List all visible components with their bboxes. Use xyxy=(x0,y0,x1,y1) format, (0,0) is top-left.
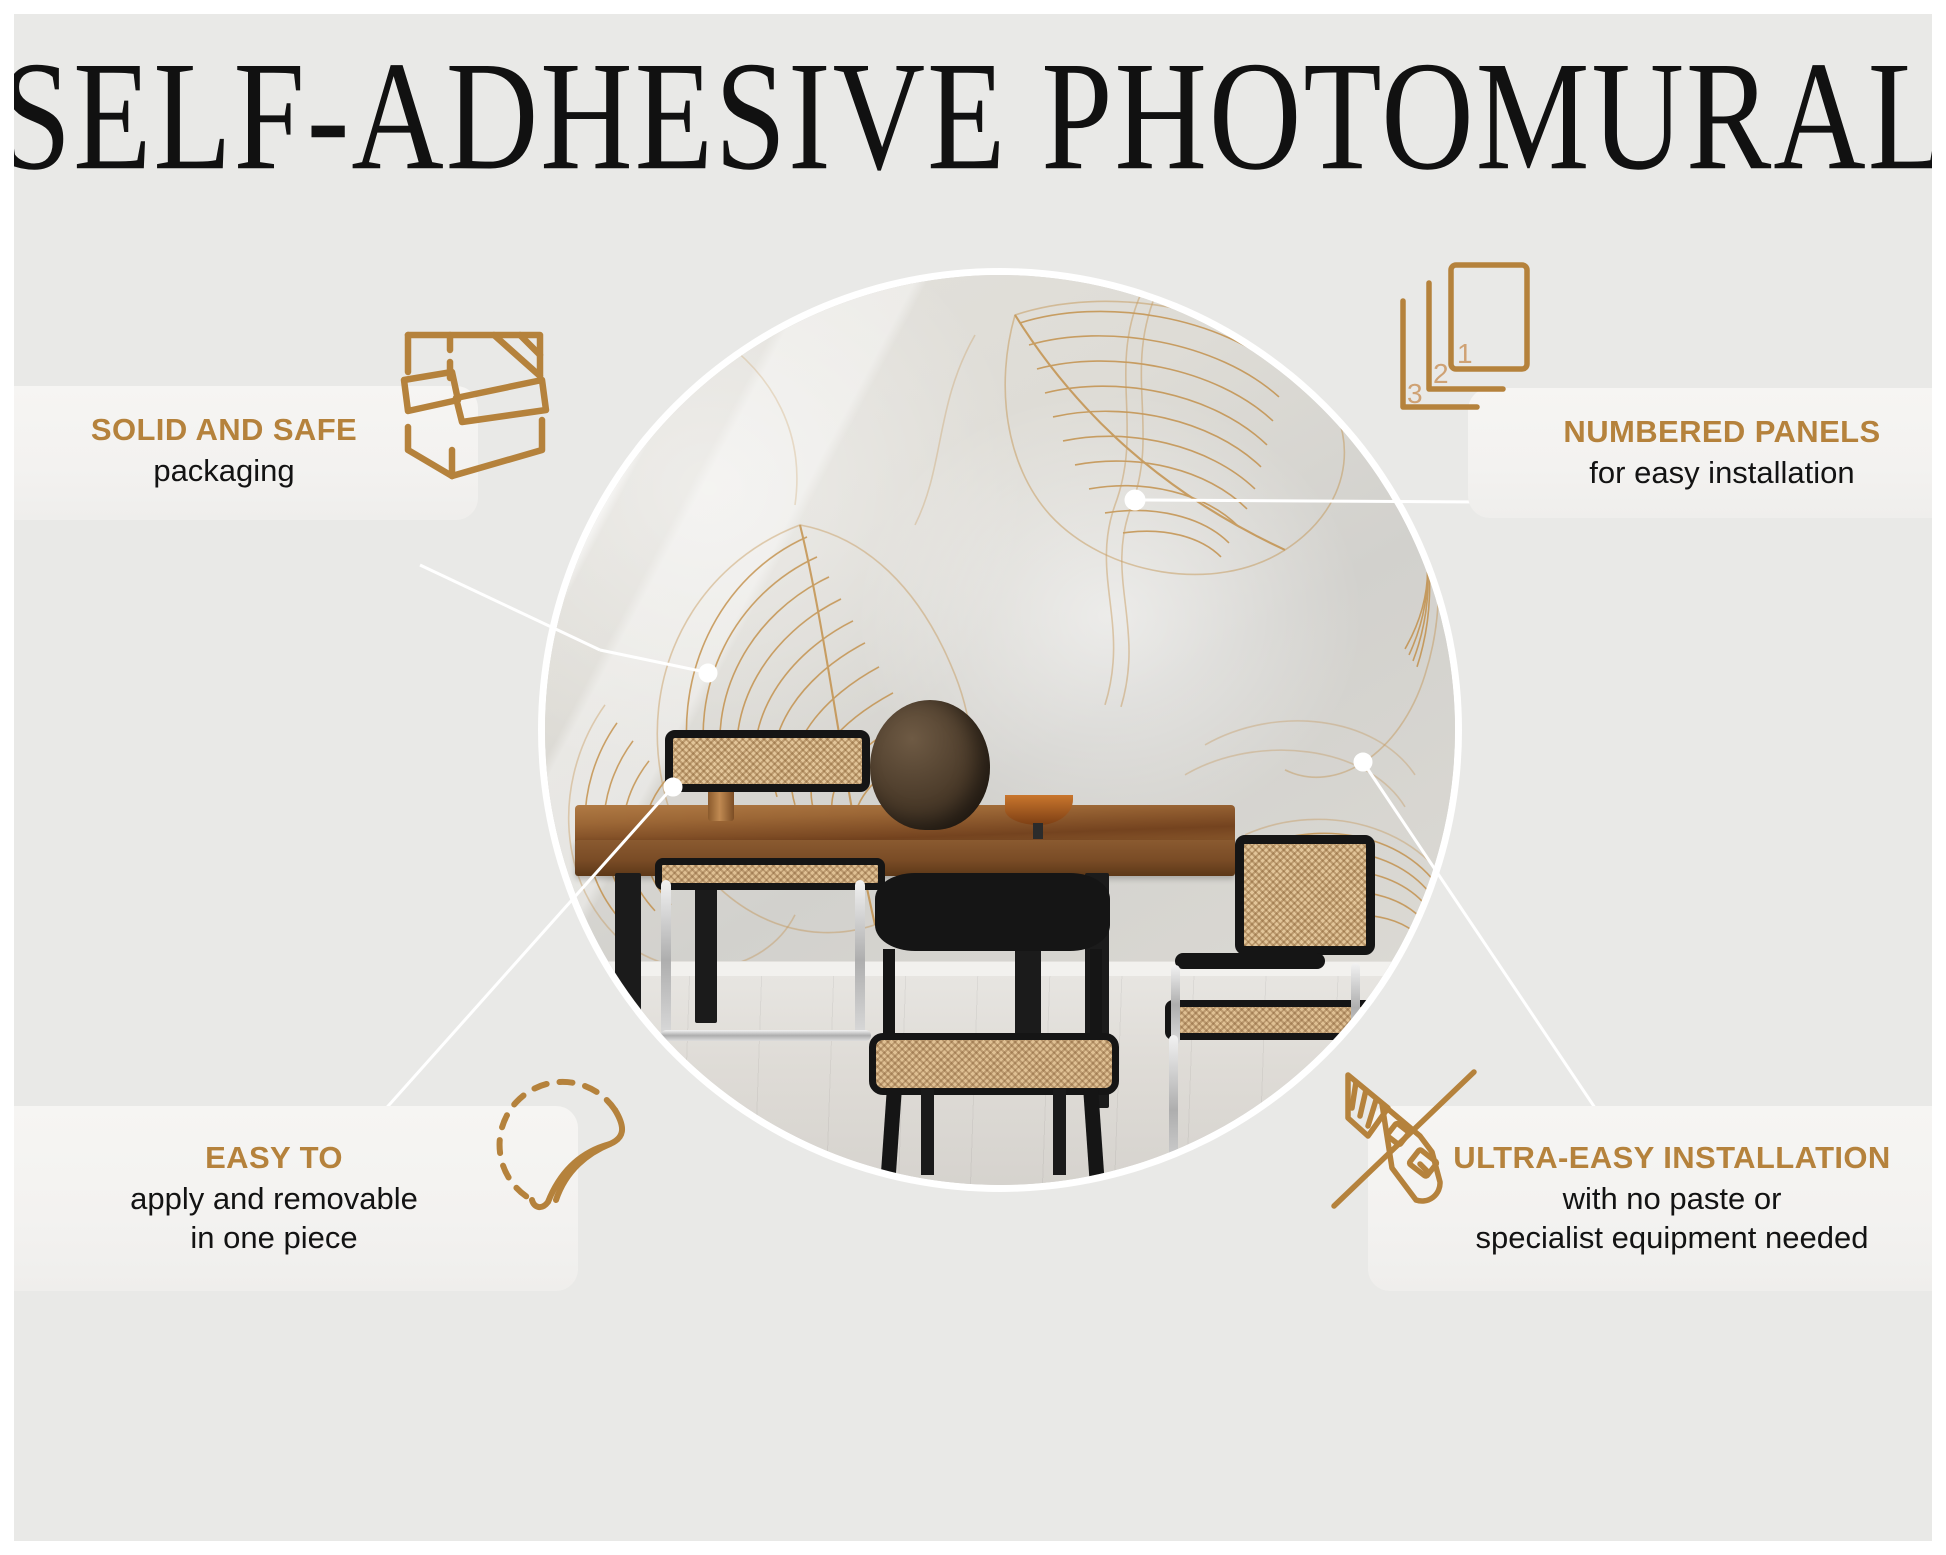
numbered-panels-icon: 1 2 3 xyxy=(1385,255,1575,445)
peeling-sticker-icon xyxy=(460,1040,660,1220)
feature-subtext: for easy installation xyxy=(1563,453,1880,492)
panel-number-2: 2 xyxy=(1433,358,1449,389)
feature-heading: SOLID AND SAFE xyxy=(91,412,357,448)
feature-heading: NUMBERED PANELS xyxy=(1563,414,1880,450)
decor-bowl-stand xyxy=(1033,823,1043,839)
feature-card-text: NUMBERED PANELS for easy installation xyxy=(1563,414,1880,493)
feature-subtext-line2: specialist equipment needed xyxy=(1453,1218,1890,1257)
feature-subtext-line1: apply and removable xyxy=(130,1179,418,1218)
page-title: SELF-ADHESIVE PHOTOMURAL xyxy=(0,34,1946,198)
chair-back-left xyxy=(655,730,885,990)
feature-card-text: EASY TO apply and removable in one piece xyxy=(130,1140,418,1258)
feature-heading: EASY TO xyxy=(130,1140,418,1176)
ceramic-vase xyxy=(870,700,990,830)
feature-subtext: packaging xyxy=(91,451,357,490)
feature-subtext-line2: in one piece xyxy=(130,1218,418,1257)
feature-card-text: SOLID AND SAFE packaging xyxy=(91,412,357,491)
chair-front-center xyxy=(875,873,1110,1185)
photomural-room-photo xyxy=(545,275,1455,1185)
panel-number-1: 1 xyxy=(1457,338,1473,369)
crossed-out-cutter-knife-icon xyxy=(1320,1060,1520,1220)
panel-number-3: 3 xyxy=(1407,378,1423,409)
table-leg-left xyxy=(615,873,641,1063)
infographic-page: SELF-ADHESIVE PHOTOMURAL xyxy=(0,0,1946,1555)
open-box-icon xyxy=(390,310,570,490)
